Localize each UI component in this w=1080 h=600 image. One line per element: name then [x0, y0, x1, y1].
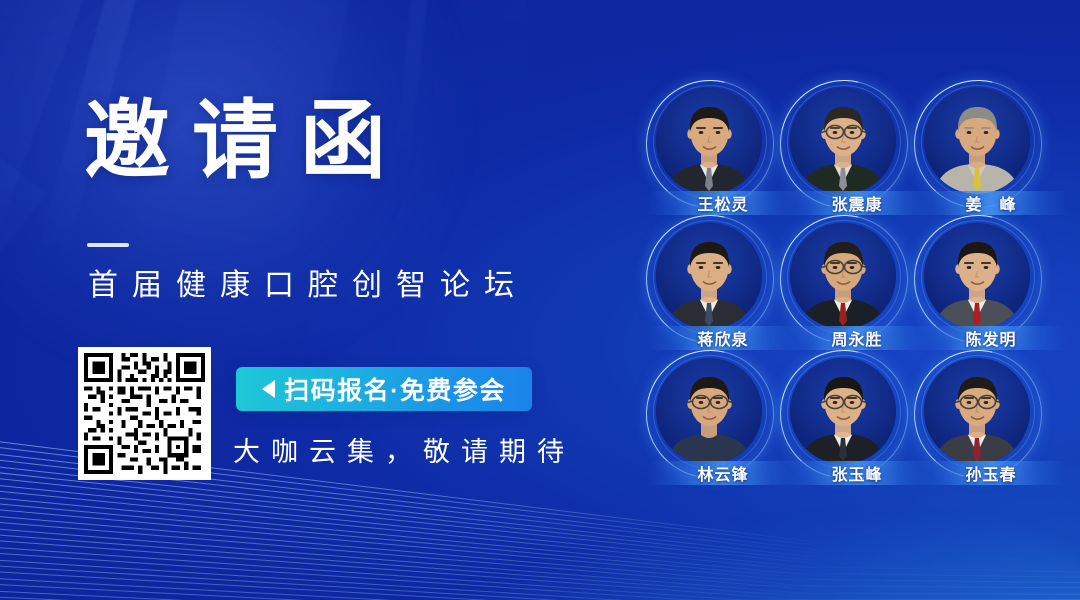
avatar: 张震康 [790, 88, 900, 198]
speaker-card[interactable]: 王松灵 [644, 88, 778, 222]
avatar-photo [656, 223, 762, 329]
speaker-name: 王松灵 [697, 191, 748, 215]
qr-code[interactable] [78, 347, 211, 480]
avatar-photo [656, 358, 762, 464]
speaker-nameplate: 姜 峰 [916, 191, 1066, 215]
invitation-poster: 邀请函 首届健康口腔创智论坛 [0, 0, 1080, 600]
tagline-text: 大咖云集，敬请期待 [233, 430, 575, 469]
avatar: 陈发明 [924, 223, 1034, 333]
speaker-nameplate: 王松灵 [648, 191, 798, 215]
avatar-photo [790, 358, 896, 464]
avatar-photo [924, 358, 1030, 464]
avatar: 孙玉春 [924, 358, 1034, 468]
avatar-photo [656, 88, 762, 194]
speaker-nameplate: 陈发明 [916, 326, 1066, 350]
speaker-nameplate: 周永胜 [782, 326, 932, 350]
speaker-card[interactable]: 陈发明 [912, 223, 1046, 357]
speaker-nameplate: 张震康 [782, 191, 932, 215]
speaker-name: 陈发明 [965, 326, 1016, 350]
speaker-name: 姜 峰 [965, 191, 1016, 215]
left-content-column: 邀请函 首届健康口腔创智论坛 [0, 0, 600, 600]
page-title: 邀请函 [84, 98, 408, 184]
avatar: 周永胜 [790, 223, 900, 333]
speaker-name: 蒋欣泉 [697, 326, 748, 350]
speaker-nameplate: 蒋欣泉 [648, 326, 798, 350]
avatar-photo [924, 223, 1030, 329]
speaker-card[interactable]: 张玉峰 [778, 358, 912, 492]
speaker-nameplate: 张玉峰 [782, 461, 932, 485]
speaker-name: 张玉峰 [831, 461, 882, 485]
speaker-grid: 王松灵 [600, 78, 1060, 518]
speaker-name: 周永胜 [831, 326, 882, 350]
scan-register-label: 扫码报名·免费参会 [284, 371, 506, 407]
speaker-card[interactable]: 林云锋 [644, 358, 778, 492]
qr-code-image [84, 353, 205, 474]
avatar-photo [790, 88, 896, 194]
avatar-photo [790, 223, 896, 329]
speaker-card[interactable]: 姜 峰 [912, 88, 1046, 222]
title-divider [87, 243, 129, 247]
speaker-nameplate: 林云锋 [648, 461, 798, 485]
speaker-card[interactable]: 张震康 [778, 88, 912, 222]
speaker-card[interactable]: 周永胜 [778, 223, 912, 357]
scan-register-button[interactable]: 扫码报名·免费参会 [236, 367, 532, 411]
avatar-photo [924, 88, 1030, 194]
speaker-card[interactable]: 蒋欣泉 [644, 223, 778, 357]
speaker-name: 张震康 [831, 191, 882, 215]
speaker-name: 孙玉春 [965, 461, 1016, 485]
avatar: 张玉峰 [790, 358, 900, 468]
page-subtitle: 首届健康口腔创智论坛 [88, 268, 528, 304]
speaker-nameplate: 孙玉春 [916, 461, 1066, 485]
triangle-left-icon [262, 380, 275, 398]
speaker-name: 林云锋 [697, 461, 748, 485]
speaker-card[interactable]: 孙玉春 [912, 358, 1046, 492]
avatar: 姜 峰 [924, 88, 1034, 198]
avatar: 林云锋 [656, 358, 766, 468]
avatar: 蒋欣泉 [656, 223, 766, 333]
avatar: 王松灵 [656, 88, 766, 198]
